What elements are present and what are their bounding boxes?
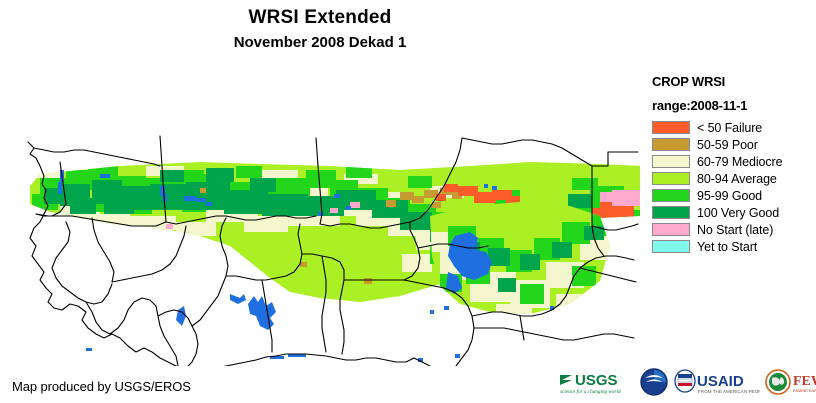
partner-logos: USGS science for a changing world USAID … bbox=[558, 364, 810, 400]
legend-heading: CROP WRSI bbox=[652, 74, 816, 89]
legend-swatch bbox=[652, 121, 690, 134]
legend-label: No Start (late) bbox=[697, 223, 773, 237]
svg-text:USGS: USGS bbox=[575, 372, 618, 389]
legend-item: Yet to Start bbox=[652, 238, 816, 255]
svg-text:FROM THE AMERICAN PEOPLE: FROM THE AMERICAN PEOPLE bbox=[698, 389, 760, 394]
legend-item: 95-99 Good bbox=[652, 187, 816, 204]
legend-label: 80-94 Average bbox=[697, 172, 777, 186]
title-block: WRSI Extended November 2008 Dekad 1 bbox=[0, 6, 640, 54]
page-subtitle: November 2008 Dekad 1 bbox=[0, 32, 640, 54]
map-canvas[interactable] bbox=[0, 66, 640, 366]
map-credit: Map produced by USGS/EROS bbox=[12, 379, 191, 394]
legend-label: < 50 Failure bbox=[697, 121, 762, 135]
svg-text:FAMINE EARLY WARNING SYSTEMS N: FAMINE EARLY WARNING SYSTEMS NETWORK bbox=[793, 388, 816, 393]
svg-text:USAID: USAID bbox=[697, 373, 744, 390]
legend-item: 50-59 Poor bbox=[652, 136, 816, 153]
legend-swatch bbox=[652, 172, 690, 185]
legend-rows: < 50 Failure50-59 Poor60-79 Mediocre80-9… bbox=[648, 119, 816, 255]
legend-item: 100 Very Good bbox=[652, 204, 816, 221]
legend-swatch bbox=[652, 138, 690, 151]
legend-item: < 50 Failure bbox=[652, 119, 816, 136]
usgs-logo: USGS science for a changing world bbox=[558, 366, 634, 398]
legend-swatch bbox=[652, 155, 690, 168]
noaa-logo bbox=[639, 366, 669, 398]
legend-item: 60-79 Mediocre bbox=[652, 153, 816, 170]
legend-label: 100 Very Good bbox=[697, 206, 779, 220]
legend-item: 80-94 Average bbox=[652, 170, 816, 187]
usaid-logo: USAID FROM THE AMERICAN PEOPLE bbox=[674, 366, 760, 398]
svg-text:science for a changing world: science for a changing world bbox=[560, 388, 621, 395]
legend-item: No Start (late) bbox=[652, 221, 816, 238]
map-svg bbox=[0, 66, 640, 366]
svg-text:FEWS NET: FEWS NET bbox=[793, 374, 816, 389]
legend-swatch bbox=[652, 189, 690, 202]
legend-label: 95-99 Good bbox=[697, 189, 762, 203]
legend-swatch bbox=[652, 240, 690, 253]
map-legend: CROP WRSI range:2008-11-1 < 50 Failure50… bbox=[648, 66, 816, 366]
legend-swatch bbox=[652, 223, 690, 236]
legend-label: Yet to Start bbox=[697, 240, 757, 254]
fewsnet-logo: FEWS NET FAMINE EARLY WARNING SYSTEMS NE… bbox=[765, 366, 816, 398]
legend-label: 60-79 Mediocre bbox=[697, 155, 782, 169]
legend-swatch bbox=[652, 206, 690, 219]
legend-label: 50-59 Poor bbox=[697, 138, 758, 152]
page-title: WRSI Extended bbox=[0, 6, 640, 30]
legend-range: range:2008-11-1 bbox=[652, 98, 816, 113]
